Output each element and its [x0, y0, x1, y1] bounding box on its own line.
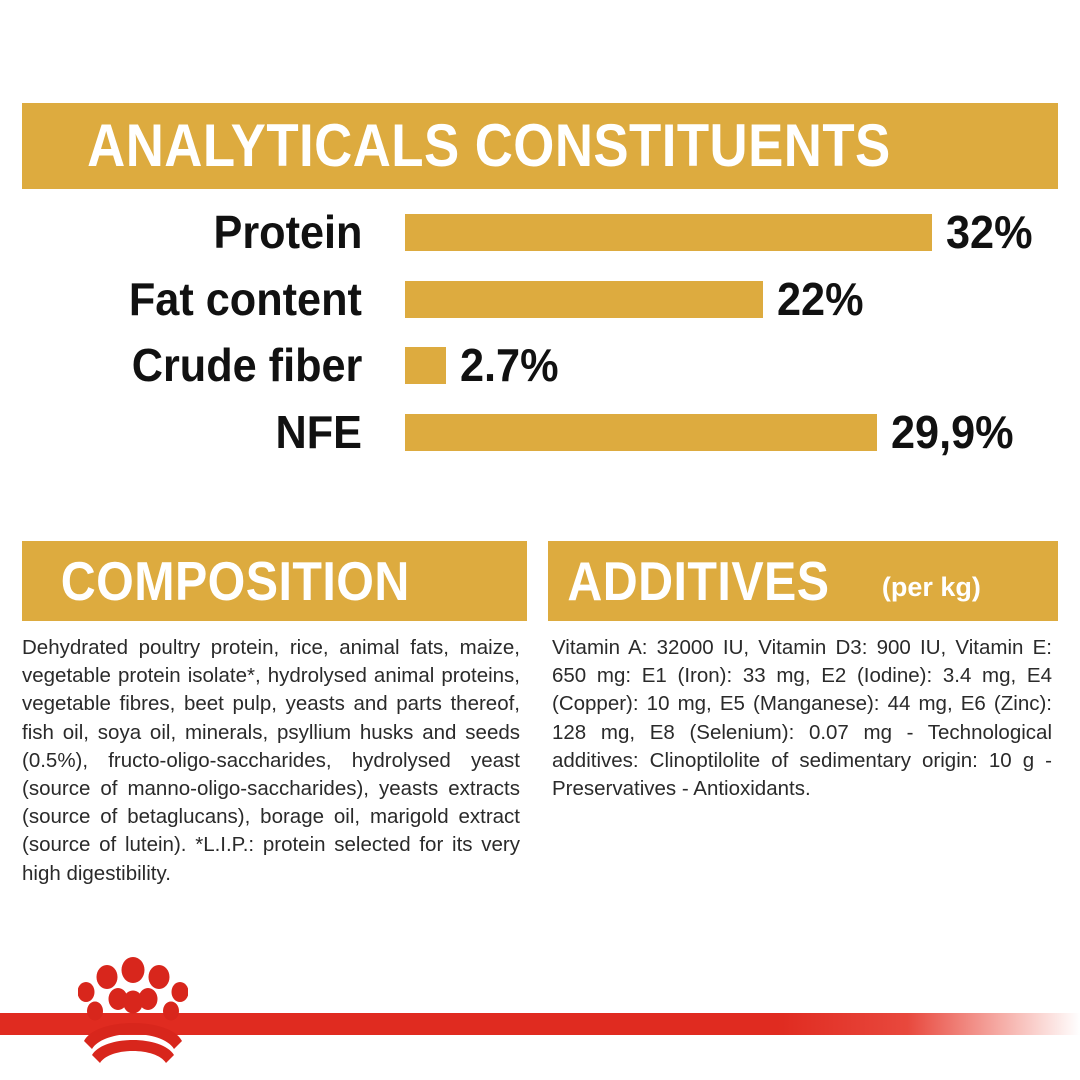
bar-fill-protein [405, 214, 932, 251]
nutrition-panel: ANALYTICALS CONSTITUENTS Protein 32% Fat… [0, 0, 1080, 1080]
bar-value-fat-content: 22% [777, 276, 864, 322]
bar-label-fat-content: Fat content [129, 276, 362, 322]
bar-track-crude-fiber: 2.7% [405, 347, 565, 384]
bar-label-crude-fiber: Crude fiber [131, 342, 362, 388]
bar-fill-nfe [405, 414, 877, 451]
footer [0, 955, 1080, 1080]
bar-value-crude-fiber: 2.7% [460, 342, 559, 388]
royal-canin-crown-logo [78, 955, 188, 1073]
bar-row-protein: Protein 32% [0, 210, 1080, 254]
bar-track-fat-content: 22% [405, 281, 869, 318]
bar-row-crude-fiber: Crude fiber 2.7% [0, 343, 1080, 387]
analyticals-constituents-title: ANALYTICALS CONSTITUENTS [22, 116, 891, 176]
bar-label-protein: Protein [213, 209, 362, 255]
bar-row-nfe: NFE 29,9% [0, 410, 1080, 454]
additives-banner: ADDITIVES (per kg) [548, 541, 1058, 621]
composition-banner: COMPOSITION [22, 541, 527, 621]
bar-value-protein: 32% [946, 209, 1033, 255]
bar-track-protein: 32% [405, 214, 1038, 251]
analyticals-constituents-banner: ANALYTICALS CONSTITUENTS [22, 103, 1058, 189]
bar-fill-fat-content [405, 281, 763, 318]
analyticals-bar-chart: Protein 32% Fat content 22% Crude fiber … [0, 210, 1080, 490]
composition-text: Dehydrated poultry protein, rice, animal… [22, 634, 520, 888]
additives-per-kg-label: (per kg) [882, 572, 981, 603]
bar-track-nfe: 29,9% [405, 414, 1021, 451]
additives-title: ADDITIVES [548, 554, 829, 609]
bar-label-nfe: NFE [276, 409, 362, 455]
composition-title: COMPOSITION [22, 554, 410, 609]
bar-fill-crude-fiber [405, 347, 446, 384]
bar-row-fat-content: Fat content 22% [0, 277, 1080, 321]
additives-text: Vitamin A: 32000 IU, Vitamin D3: 900 IU,… [552, 634, 1052, 803]
bar-value-nfe: 29,9% [891, 409, 1014, 455]
